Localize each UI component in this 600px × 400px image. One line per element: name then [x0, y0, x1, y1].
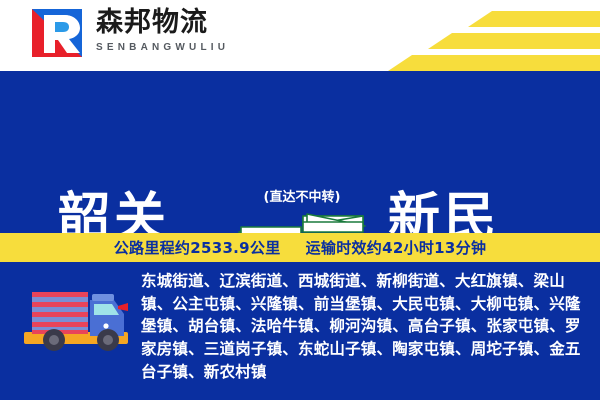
logistics-route-banner: 森邦物流 SENBANGWULIU 韶关 (直达不中转)	[0, 0, 600, 400]
route-section: 韶关 (直达不中转) 【往返运输】 新民	[0, 71, 600, 233]
company-name-block: 森邦物流 SENBANGWULIU	[96, 7, 229, 55]
banner-header: 森邦物流 SENBANGWULIU	[0, 0, 600, 71]
route-note-direct: (直达不中转)	[232, 189, 372, 207]
coverage-area-list: 东城街道、辽滨街道、西城街道、新柳街道、大红旗镇、梁山镇、公主屯镇、兴隆镇、前当…	[141, 270, 591, 384]
company-name-en: SENBANGWULIU	[96, 41, 229, 55]
route-info-bar: 公路里程约2533.9公里 运输时效约42小时13分钟	[0, 233, 600, 262]
coverage-section: 东城街道、辽滨街道、西城街道、新柳街道、大红旗镇、梁山镇、公主屯镇、兴隆镇、前当…	[0, 262, 600, 400]
decorative-diagonal-stripes	[300, 0, 600, 71]
company-logo-group: 森邦物流 SENBANGWULIU	[30, 7, 229, 59]
duration-text: 运输时效约42小时13分钟	[306, 239, 487, 257]
delivery-truck-icon	[18, 284, 134, 359]
senbang-r-logo-icon	[30, 7, 84, 59]
info-bar-content: 公路里程约2533.9公里 运输时效约42小时13分钟	[114, 237, 487, 258]
company-name-cn: 森邦物流	[96, 7, 229, 39]
distance-text: 公路里程约2533.9公里	[114, 239, 281, 257]
